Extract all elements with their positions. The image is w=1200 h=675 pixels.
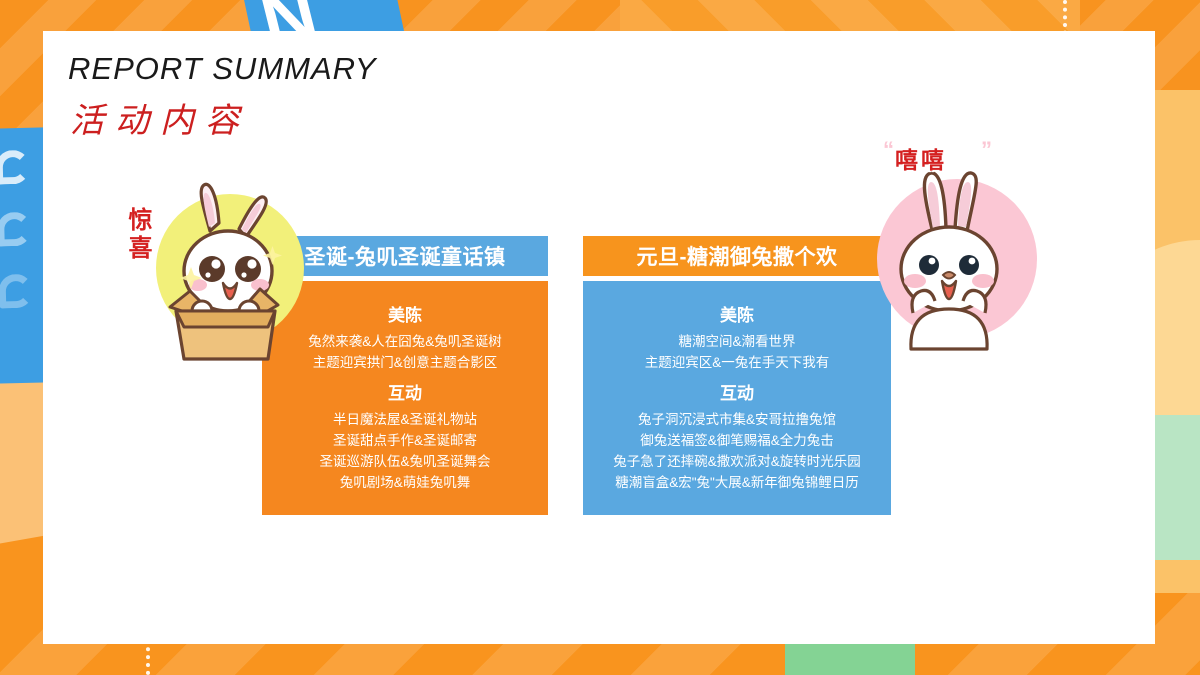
section-line: 兔然来袭&人在囧兔&兔叽圣诞树 xyxy=(272,331,538,352)
card-new-year-header: 元旦-糖潮御兔撒个欢 xyxy=(583,236,891,276)
slide-canvas: N 2 REPORT SUMMARY 活动内容 圣诞-兔叽圣诞童话镇 美陈 兔然… xyxy=(0,0,1200,675)
mascot-rabbit-in-box: 惊喜 xyxy=(118,179,303,369)
section-line: 圣诞巡游队伍&兔叽圣诞舞会 xyxy=(272,451,538,472)
quote-mark-left: “ xyxy=(883,137,894,163)
section-line: 圣诞甜点手作&圣诞邮寄 xyxy=(272,430,538,451)
section-line: 糖潮空间&潮看世界 xyxy=(593,331,881,352)
card-christmas[interactable]: 圣诞-兔叽圣诞童话镇 美陈 兔然来袭&人在囧兔&兔叽圣诞树 主题迎宾拱门&创意主… xyxy=(262,236,548,515)
section-line: 主题迎宾拱门&创意主题合影区 xyxy=(272,352,538,373)
swirl-icon xyxy=(0,212,32,247)
section-line: 主题迎宾区&一兔在手天下我有 xyxy=(593,352,881,373)
section-line: 兔叽剧场&萌娃兔叽舞 xyxy=(272,472,538,493)
section-title: 互动 xyxy=(272,379,538,404)
swirl-icon xyxy=(0,274,33,309)
section-line: 兔子急了还摔碗&撒欢派对&旋转时光乐园 xyxy=(593,451,881,472)
card-christmas-body: 美陈 兔然来袭&人在囧兔&兔叽圣诞树 主题迎宾拱门&创意主题合影区 互动 半日魔… xyxy=(262,281,548,515)
section-line: 半日魔法屋&圣诞礼物站 xyxy=(272,409,538,430)
section-line: 御兔送福签&御笔赐福&全力兔击 xyxy=(593,430,881,451)
rabbit-waving-illustration xyxy=(849,141,1049,351)
mascot-badge-surprise: 惊喜 xyxy=(122,207,152,263)
section-line: 糖潮盲盒&宏"兔"大展&新年御兔锦鲤日历 xyxy=(593,472,881,493)
swirl-icon xyxy=(0,150,30,185)
card-new-year[interactable]: 元旦-糖潮御兔撒个欢 美陈 糖潮空间&潮看世界 主题迎宾区&一兔在手天下我有 互… xyxy=(583,236,891,515)
section-title: 美陈 xyxy=(272,301,538,326)
quote-mark-right: ” xyxy=(981,137,992,163)
section-line: 兔子洞沉浸式市集&安哥拉撸兔馆 xyxy=(593,409,881,430)
content-panel: REPORT SUMMARY 活动内容 圣诞-兔叽圣诞童话镇 美陈 兔然来袭&人… xyxy=(43,31,1155,644)
card-new-year-body: 美陈 糖潮空间&潮看世界 主题迎宾区&一兔在手天下我有 互动 兔子洞沉浸式市集&… xyxy=(583,281,891,515)
section-title: 互动 xyxy=(593,379,881,404)
mascot-badge-giggle: 嘻嘻 xyxy=(895,141,947,175)
mascot-rabbit-waving: “ ” 嘻嘻 xyxy=(849,141,1049,351)
section-title: 美陈 xyxy=(593,301,881,326)
card-christmas-header: 圣诞-兔叽圣诞童话镇 xyxy=(262,236,548,276)
page-title-english: REPORT SUMMARY xyxy=(68,51,377,87)
page-title-chinese: 活动内容 xyxy=(70,93,250,142)
